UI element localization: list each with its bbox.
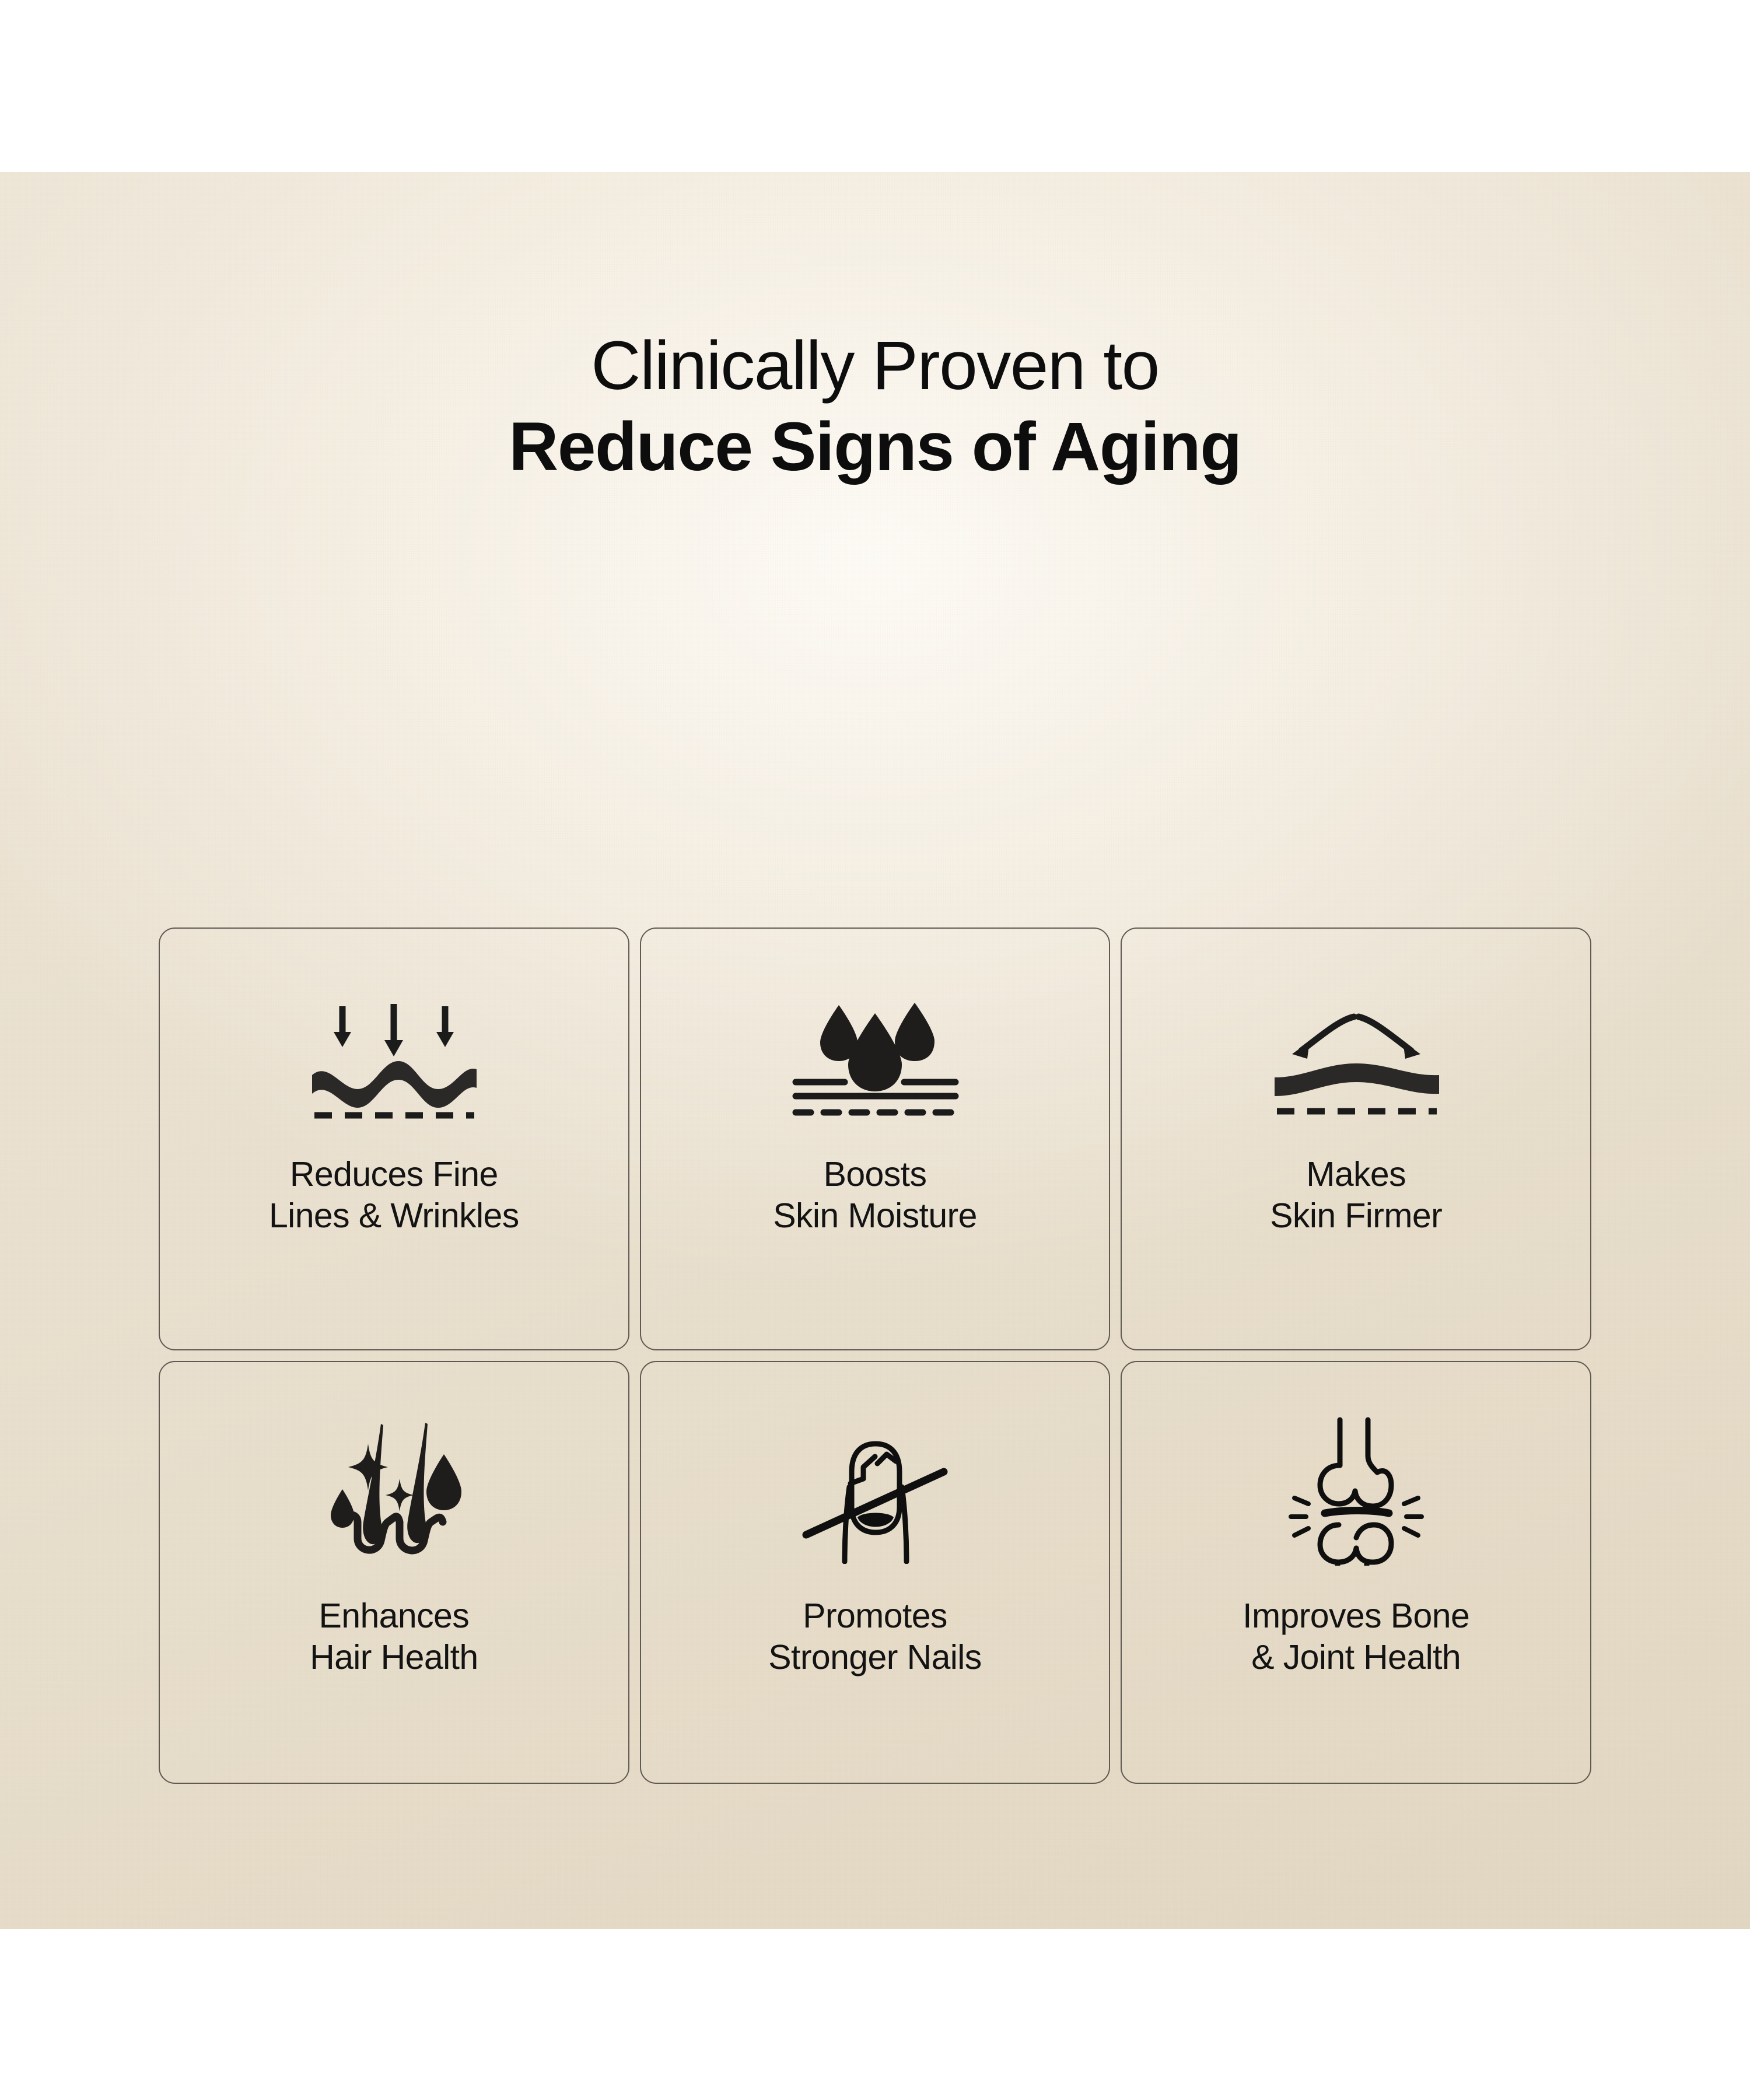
benefits-panel: Clinically Proven to Reduce Signs of Agi…	[0, 172, 1750, 1929]
benefit-card-label: Reduces Fine Lines & Wrinkles	[255, 1154, 533, 1237]
benefit-card-reduces-fine-lines[interactable]: Reduces Fine Lines & Wrinkles	[159, 928, 629, 1350]
hair-follicle-sparkle-icon	[312, 1418, 475, 1564]
knee-joint-relief-icon	[1275, 1418, 1438, 1564]
firming-arrows-skin-icon	[1269, 999, 1444, 1121]
benefit-card-label: Boosts Skin Moisture	[759, 1154, 991, 1237]
heading-line-1: Clinically Proven to	[0, 330, 1750, 402]
benefits-grid: Reduces Fine Lines & Wrinkles Boosts Ski…	[159, 928, 1591, 1784]
benefit-card-improves-bone-joint-health[interactable]: Improves Bone & Joint Health	[1121, 1361, 1591, 1784]
cracked-nail-crossed-out-icon	[793, 1418, 957, 1564]
benefit-card-promotes-stronger-nails[interactable]: Promotes Stronger Nails	[640, 1361, 1111, 1784]
benefit-card-enhances-hair-health[interactable]: Enhances Hair Health	[159, 1361, 629, 1784]
benefit-card-label: Improves Bone & Joint Health	[1228, 1595, 1483, 1678]
benefit-card-label: Enhances Hair Health	[296, 1595, 492, 1678]
benefit-card-label: Promotes Stronger Nails	[754, 1595, 995, 1678]
water-droplets-skin-icon	[787, 999, 963, 1121]
benefit-card-makes-skin-firmer[interactable]: Makes Skin Firmer	[1121, 928, 1591, 1350]
page-title: Clinically Proven to Reduce Signs of Agi…	[0, 330, 1750, 484]
heading-line-2: Reduce Signs of Aging	[0, 411, 1750, 484]
benefit-card-label: Makes Skin Firmer	[1256, 1154, 1456, 1237]
benefit-card-boosts-skin-moisture[interactable]: Boosts Skin Moisture	[640, 928, 1111, 1350]
wrinkle-arrows-skin-icon	[306, 999, 481, 1121]
